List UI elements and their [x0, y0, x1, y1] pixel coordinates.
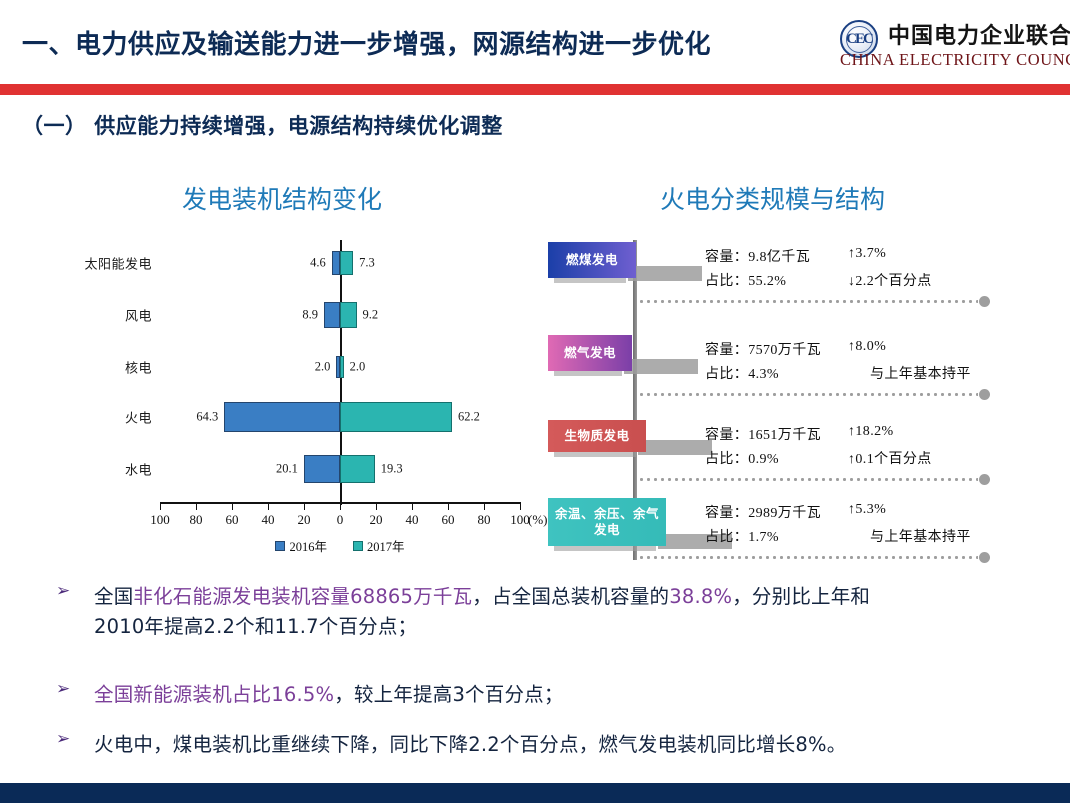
bar-2017: [340, 251, 353, 275]
capacity-value: 容量：2989万千瓦: [705, 502, 821, 522]
bar-value-2017: 7.3: [359, 256, 375, 271]
bar-row: 风电8.99.2: [60, 298, 530, 332]
bullet-text: 火电中，煤电装机比重继续下降，同比下降2.2个百分点，燃气发电装机同比增长8%。: [94, 730, 846, 760]
chart-legend: 2016年 2017年: [160, 536, 520, 555]
bar-row: 太阳能发电4.67.3: [60, 246, 530, 280]
growth-value: ↑3.7%: [848, 246, 886, 262]
dotted-connector: [638, 478, 978, 481]
share-change-value: 与上年基本持平: [870, 363, 971, 383]
x-tick-mark: [412, 502, 413, 510]
x-tick-label: 80: [478, 512, 491, 528]
x-tick-mark: [376, 502, 377, 510]
organization-logo: CEC 中国电力企业联合会 CHINA ELECTRICITY COUNCIL: [840, 18, 1064, 76]
connector-endpoint-dot: [979, 474, 990, 485]
dotted-connector: [638, 300, 978, 303]
bar-zone: 8.99.2: [160, 298, 520, 332]
bar-zone: 2.02.0: [160, 350, 520, 384]
share-value: 占比：0.9%: [705, 448, 779, 468]
slide-footer-bar: [0, 783, 1070, 803]
bar-zone: 20.119.3: [160, 452, 520, 486]
bullet-highlight: 非化石能源发电装机容量68865万千瓦: [133, 585, 472, 608]
bar-value-2017: 62.2: [458, 410, 480, 425]
capacity-value: 容量：1651万千瓦: [705, 424, 821, 444]
legend-swatch-icon: [353, 541, 363, 551]
capacity-value: 容量：7570万千瓦: [705, 339, 821, 359]
bar-category-label: 水电: [60, 460, 152, 479]
x-tick-label: 60: [226, 512, 239, 528]
category-tag[interactable]: 余温、余压、余气发电: [548, 498, 666, 546]
legend-label-2016: 2016年: [289, 536, 327, 555]
bullet-line: 火电中，煤电装机比重继续下降，同比下降2.2个百分点，燃气发电装机同比增长8%。: [94, 730, 846, 760]
x-tick-label: 80: [190, 512, 203, 528]
thermal-power-breakdown-diagram: 燃煤发电容量：9.8亿千瓦占比：55.2%↑3.7%↓2.2个百分点燃气发电容量…: [530, 240, 1000, 560]
category-tag-label: 余温、余压、余气: [555, 506, 659, 522]
legend-item-2017: 2017年: [353, 536, 405, 555]
bar-category-label: 太阳能发电: [60, 254, 152, 273]
bar-2016: [332, 251, 340, 275]
growth-value: ↑8.0%: [848, 339, 886, 355]
x-tick-mark: [304, 502, 305, 510]
bar-2017: [340, 455, 375, 483]
tag-ribbon-shadow: [624, 359, 698, 374]
x-tick-label: 0: [337, 512, 344, 528]
bullet-seg: ，较上年提高3个百分点；: [334, 683, 563, 706]
x-tick-label: 20: [370, 512, 383, 528]
bar-2017: [340, 302, 357, 328]
category-tag-label: 生物质发电: [564, 428, 629, 444]
bar-value-2016: 2.0: [315, 360, 331, 375]
bullet-line: 全国新能源装机占比16.5%，较上年提高3个百分点；: [94, 680, 564, 710]
bullet-highlight: 38.8%: [669, 585, 732, 608]
x-tick-mark: [448, 502, 449, 510]
bar-category-label: 火电: [60, 408, 152, 427]
share-change-value: 与上年基本持平: [870, 526, 971, 546]
category-tag[interactable]: 生物质发电: [548, 420, 646, 452]
breakdown-row: 余温、余压、余气发电容量：2989万千瓦占比：1.7%↑5.3%与上年基本持平: [530, 498, 1000, 584]
bullet-highlight: 全国新能源装机占比16.5%: [94, 683, 334, 706]
tag-base-shadow: [554, 371, 622, 376]
bullet-arrow-icon: ➢: [56, 681, 70, 698]
capacity-value: 容量：9.8亿千瓦: [705, 246, 810, 266]
bar-row: 火电64.362.2: [60, 400, 530, 434]
bar-value-2016: 64.3: [196, 410, 218, 425]
bar-2017: [340, 402, 452, 432]
slide-header: 一、电力供应及输送能力进一步增强，网源结构进一步优化 CEC 中国电力企业联合会…: [0, 0, 1070, 82]
category-tag-label: 燃气发电: [564, 345, 616, 361]
bar-value-2016: 20.1: [276, 462, 298, 477]
category-tag-label-2: 发电: [555, 522, 659, 538]
x-tick-label: 20: [298, 512, 311, 528]
page-title: 一、电力供应及输送能力进一步增强，网源结构进一步优化: [22, 24, 711, 61]
tag-base-shadow: [554, 452, 636, 457]
x-tick-mark: [196, 502, 197, 510]
bullet-seg: ，占全国总装机容量的: [472, 585, 669, 608]
bullet-seg: 全国: [94, 585, 133, 608]
connector-endpoint-dot: [979, 389, 990, 400]
bar-2016: [324, 302, 340, 328]
bullet-text: 全国新能源装机占比16.5%，较上年提高3个百分点；: [94, 680, 564, 710]
connector-endpoint-dot: [979, 296, 990, 307]
bar-2016: [304, 455, 340, 483]
dotted-connector: [638, 556, 978, 559]
bar-zone: 4.67.3: [160, 246, 520, 280]
share-value: 占比：4.3%: [705, 363, 779, 383]
x-tick-label: 100: [150, 512, 170, 528]
legend-label-2017: 2017年: [367, 536, 405, 555]
bullet-arrow-icon: ➢: [56, 731, 70, 748]
bullet-line: 全国非化石能源发电装机容量68865万千瓦，占全国总装机容量的38.8%，分别比…: [94, 582, 870, 612]
x-tick-mark: [160, 502, 161, 510]
bar-2017: [340, 356, 344, 378]
connector-endpoint-dot: [979, 552, 990, 563]
bar-value-2016: 4.6: [310, 256, 326, 271]
x-tick-label: 100: [510, 512, 530, 528]
tag-base-shadow: [554, 546, 656, 551]
section-heading: （一） 供应能力持续增强，电源结构持续优化调整: [22, 110, 503, 140]
bullet-seg: ，分别比上年和: [732, 585, 870, 608]
tag-ribbon-shadow: [628, 266, 702, 281]
header-divider: [0, 84, 1070, 95]
bullet-text: 全国非化石能源发电装机容量68865万千瓦，占全国总装机容量的38.8%，分别比…: [94, 582, 870, 642]
share-value: 占比：55.2%: [705, 270, 786, 290]
category-tag[interactable]: 燃煤发电: [548, 242, 636, 278]
x-tick-mark: [232, 502, 233, 510]
tag-base-shadow: [554, 278, 626, 283]
bar-category-label: 风电: [60, 306, 152, 325]
logo-chinese-name: 中国电力企业联合会: [888, 18, 1070, 50]
x-tick-mark: [520, 502, 521, 510]
category-tag-label: 燃煤发电: [566, 252, 618, 268]
bar-value-2016: 8.9: [302, 308, 318, 323]
legend-item-2016: 2016年: [275, 536, 327, 555]
share-change-value: ↑0.1个百分点: [848, 448, 932, 468]
share-change-value: ↓2.2个百分点: [848, 270, 932, 290]
legend-swatch-icon: [275, 541, 285, 551]
breakdown-row: 燃煤发电容量：9.8亿千瓦占比：55.2%↑3.7%↓2.2个百分点: [530, 242, 1000, 328]
bar-row: 核电2.02.0: [60, 350, 530, 384]
share-value: 占比：1.7%: [705, 526, 779, 546]
x-tick-label: 40: [406, 512, 419, 528]
growth-value: ↑18.2%: [848, 424, 894, 440]
category-tag[interactable]: 燃气发电: [548, 335, 632, 371]
breakdown-row: 燃气发电容量：7570万千瓦占比：4.3%↑8.0%与上年基本持平: [530, 335, 1000, 421]
breakdown-row: 生物质发电容量：1651万千瓦占比：0.9%↑18.2%↑0.1个百分点: [530, 420, 1000, 506]
bar-2016: [224, 402, 340, 432]
x-tick-mark: [484, 502, 485, 510]
growth-value: ↑5.3%: [848, 502, 886, 518]
x-tick-mark: [340, 502, 341, 510]
left-chart-title: 发电装机结构变化: [182, 180, 382, 216]
bar-value-2017: 19.3: [381, 462, 403, 477]
x-tick-label: 60: [442, 512, 455, 528]
x-tick-mark: [268, 502, 269, 510]
bar-category-label: 核电: [60, 358, 152, 377]
right-chart-title: 火电分类规模与结构: [660, 180, 885, 216]
bar-zone: 64.362.2: [160, 400, 520, 434]
bar-value-2017: 2.0: [350, 360, 366, 375]
tag-ribbon-shadow: [638, 440, 712, 455]
dotted-connector: [638, 393, 978, 396]
bar-row: 水电20.119.3: [60, 452, 530, 486]
bullet-arrow-icon: ➢: [56, 583, 70, 600]
bar-value-2017: 9.2: [363, 308, 379, 323]
bullet-line: 2010年提高2.2个和11.7个百分点；: [94, 612, 870, 642]
x-tick-label: 40: [262, 512, 275, 528]
logo-english-name: CHINA ELECTRICITY COUNCIL: [840, 50, 1070, 70]
installed-capacity-structure-chart: 太阳能发电4.67.3风电8.99.2核电2.02.0火电64.362.2水电2…: [60, 240, 530, 550]
